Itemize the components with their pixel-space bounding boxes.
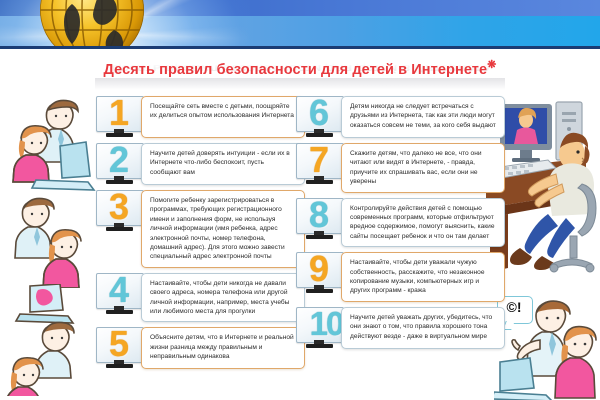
girl-at-laptop-illustration [2, 284, 102, 400]
page-title-text: Десять правил безопасности для детей в И… [104, 62, 488, 78]
rules-column-left: 1 Посещайте сеть вместе с детьми, поощря… [95, 96, 305, 374]
rule-text: Объясните детям, что в Интернете и реаль… [141, 327, 305, 369]
snowflake-icon: ❋ [487, 59, 496, 71]
rule-text: Научите детей доверять интуиции - если и… [141, 143, 305, 185]
rule-text: Настаивайте, чтобы дети никогда не давал… [141, 273, 305, 323]
two-children-illustration [10, 192, 102, 293]
poster-canvas: Десять правил безопасности для детей в И… [0, 0, 600, 400]
rule-item: 2 Научите детей доверять интуиции - если… [95, 143, 305, 185]
rule-text: Посещайте сеть вместе с детьми, поощряйт… [141, 96, 305, 138]
header-divider [0, 46, 600, 49]
rule-item: 9 Настаивайте, чтобы дети уважали чужую … [295, 252, 505, 302]
rules-column-right: 6 Детям никогда не следует встречаться с… [295, 96, 505, 354]
rule-text: Контролируйте действия детей с помощью с… [341, 198, 505, 248]
rule-text: Детям никогда не следует встречаться с д… [341, 96, 505, 138]
rule-text: Помогите ребенку зарегистрироваться в пр… [141, 190, 305, 268]
rule-text: Научите детей уважать других, убедитесь,… [341, 307, 505, 349]
globe-icon [28, 0, 156, 49]
rule-number: 2 [95, 140, 143, 180]
rule-text: Настаивайте, чтобы дети уважали чужую со… [341, 252, 505, 302]
rule-number: 6 [295, 93, 343, 133]
rule-item: 8 Контролируйте действия детей с помощью… [295, 198, 505, 248]
rule-number: 4 [95, 270, 143, 310]
page-title: Десять правил безопасности для детей в И… [0, 58, 600, 78]
rule-item: 7 Скажите детям, что далеко не все, что … [295, 143, 505, 193]
rule-number: 1 [95, 93, 143, 133]
title-shelf [95, 78, 505, 90]
boy-and-girl-at-laptop-illustration [6, 92, 102, 197]
rule-number: 8 [295, 195, 343, 235]
rule-item: 1 Посещайте сеть вместе с детьми, поощря… [95, 96, 305, 138]
rule-number: 7 [295, 140, 343, 180]
rule-number: 9 [295, 249, 343, 289]
rule-number: 3 [95, 187, 143, 227]
rule-item: 6 Детям никогда не следует встречаться с… [295, 96, 505, 138]
rule-item: 4 Настаивайте, чтобы дети никогда не дав… [95, 273, 305, 323]
rule-item: 3 Помогите ребенку зарегистрироваться в … [95, 190, 305, 268]
poster-header [0, 0, 600, 49]
rule-text: Скажите детям, что далеко не все, что он… [341, 143, 505, 193]
rule-item: 5 Объясните детям, что в Интернете и реа… [95, 327, 305, 369]
rule-item: 10 Научите детей уважать других, убедите… [295, 307, 505, 349]
rule-number: 5 [95, 324, 143, 364]
